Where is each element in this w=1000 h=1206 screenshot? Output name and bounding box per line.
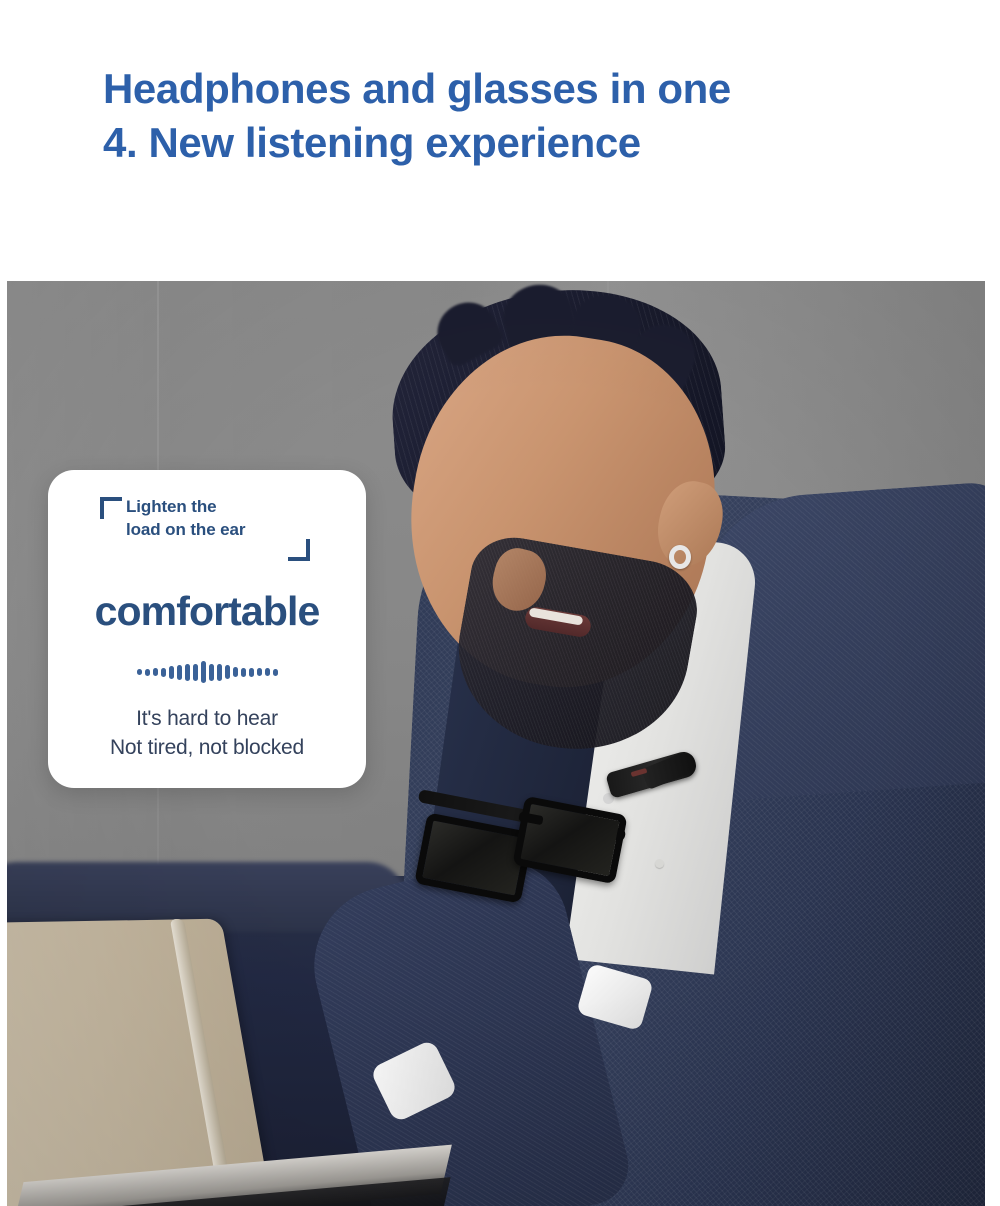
earring <box>669 545 691 569</box>
card-kicker-line-2: load on the ear <box>126 518 245 541</box>
bracket-top-left-icon <box>100 497 122 519</box>
card-title: comfortable <box>48 587 366 635</box>
waveform-bar <box>185 664 190 681</box>
waveform-bar <box>233 667 238 677</box>
waveform-bar <box>161 668 166 677</box>
waveform-bar <box>153 668 158 676</box>
waveform-bar <box>193 664 198 681</box>
bracket-bottom-right-icon <box>288 539 310 561</box>
feature-callout-card: Lighten the load on the ear comfortable … <box>48 470 366 788</box>
card-kicker: Lighten the load on the ear <box>126 495 245 541</box>
card-subtitle-line-2: Not tired, not blocked <box>48 733 366 762</box>
card-kicker-group: Lighten the load on the ear <box>48 497 366 569</box>
waveform-bar <box>169 666 174 679</box>
card-subtitle: It's hard to hear Not tired, not blocked <box>48 704 366 762</box>
waveform-bar <box>217 664 222 681</box>
waveform-bar <box>201 661 206 683</box>
card-subtitle-line-1: It's hard to hear <box>48 704 366 733</box>
page-heading: Headphones and glasses in one 4. New lis… <box>0 62 1000 170</box>
heading-line-2: 4. New listening experience <box>103 116 1000 170</box>
shirt-button <box>655 859 664 868</box>
waveform-bar <box>225 665 230 679</box>
waveform-bar <box>241 668 246 677</box>
waveform-bar <box>137 669 142 675</box>
heading-line-1: Headphones and glasses in one <box>103 62 1000 116</box>
waveform-bar <box>145 669 150 676</box>
waveform-bar <box>177 665 182 680</box>
waveform-bar <box>265 668 270 676</box>
waveform-bar <box>273 669 278 676</box>
waveform-bar <box>209 664 214 681</box>
waveform-bar <box>257 668 262 676</box>
audio-waveform-icon <box>48 659 366 685</box>
card-kicker-line-1: Lighten the <box>126 495 245 518</box>
waveform-bar <box>249 668 254 677</box>
